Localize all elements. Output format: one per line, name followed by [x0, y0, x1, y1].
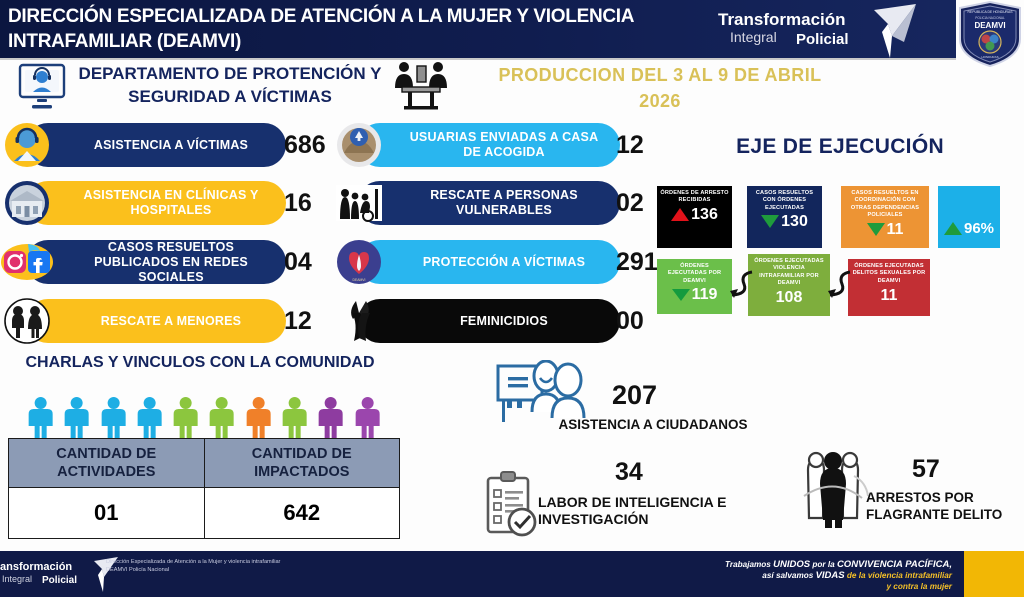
stat-pill-personas-vulnerables[interactable]: RESCATE A PERSONAS VULNERABLES 02 [332, 179, 662, 227]
eje-section-title: EJE DE EJECUCIÓN [700, 135, 980, 159]
header-bar: DIRECCIÓN ESPECIALIZADA DE ATENCIÓN A LA… [0, 0, 956, 60]
table-header-impactados: CANTIDAD DE IMPACTADOS [204, 439, 400, 488]
eje-box-value: 96% [964, 220, 994, 237]
people-pictogram-row [24, 396, 384, 442]
eje-box-porcentaje[interactable]: 96% [938, 186, 1000, 248]
person-icon [97, 396, 130, 442]
pill-label: ASISTENCIA A VÍCTIMAS [94, 138, 248, 153]
trend-down-arrow-icon [761, 215, 779, 228]
pill-value: 12 [284, 307, 312, 336]
person-icon [314, 396, 347, 442]
eje-box-ordenes-recibidas[interactable]: ÓRDENES DE ARRESTO RECIBIDAS 136 [657, 186, 732, 248]
pill-label: USUARIAS ENVIADAS A CASA DE ACOGIDA [402, 130, 606, 160]
person-icon [242, 396, 275, 442]
slogan-part-4: de la violencia intrafamiliar [845, 571, 952, 580]
svg-text:REPUBLICA DE HONDURAS: REPUBLICA DE HONDURAS [967, 10, 1013, 14]
svg-text:DEAMVI: DEAMVI [974, 21, 1005, 30]
stat-pill-proteccion-victimas[interactable]: PROTECCIÓN A VÍCTIMAS DEAMVI 291 [332, 238, 662, 286]
heart-shield-icon: DEAMVI [332, 238, 386, 286]
eje-box-ordenes-deamvi[interactable]: ÓRDENES EJECUTADAS POR DEAMVI 119 [657, 259, 732, 314]
eje-box-label: ÓRDENES EJECUTADAS POR DEAMVI [660, 263, 729, 285]
eje-box-value: 136 [691, 206, 718, 223]
trend-down-arrow-icon [672, 289, 690, 301]
eje-box-label: ÓRDENES EJECUTADAS VIOLENCIA INTRAFAMILI… [751, 258, 827, 288]
stat-label-asistencia-ciudadanos: ASISTENCIA A CIUDADANOS [548, 416, 758, 433]
department-title: DEPARTAMENTO DE PROTENCIÓN Y SEGURIDAD A… [72, 62, 388, 108]
stat-pill-clinicas-hospitales[interactable]: ASISTENCIA EN CLÍNICAS Y HOSPITALES 16 [0, 179, 340, 227]
footer-bar: ansformación Integral Policial Dirección… [0, 551, 1024, 597]
eje-box-label: ÓRDENES DE ARRESTO RECIBIDAS [660, 190, 729, 205]
deamvi-shield-logo: REPUBLICA DE HONDURAS POLICIA NACIONAL D… [958, 1, 1022, 67]
table-header-row: CANTIDAD DE ACTIVIDADES CANTIDAD DE IMPA… [9, 439, 400, 488]
person-icon [351, 396, 384, 442]
svg-text:HONDURAS: HONDURAS [981, 55, 998, 59]
eje-box-value: 108 [776, 289, 803, 306]
eje-box-value: 11 [881, 287, 898, 304]
eje-box-value-row: 96% [944, 220, 994, 237]
stat-pill-feminicidios[interactable]: FEMINICIDIOS 00 [332, 297, 662, 345]
pill-body: CASOS RESUELTOS PUBLICADOS EN REDES SOCI… [26, 240, 286, 284]
pill-label: ASISTENCIA EN CLÍNICAS Y HOSPITALES [70, 188, 272, 218]
pill-label: FEMINICIDIOS [460, 314, 548, 329]
pill-body: ASISTENCIA A VÍCTIMAS [26, 123, 286, 167]
trend-up-arrow-icon [944, 222, 962, 235]
eje-box-coordinacion-dependencias[interactable]: CASOS RESUELTOS EN COORDINACIÓN CON OTRA… [841, 186, 929, 248]
pill-body: PROTECCIÓN A VÍCTIMAS [358, 240, 620, 284]
person-icon [60, 396, 93, 442]
pill-body: USUARIAS ENVIADAS A CASA DE ACOGIDA [358, 123, 620, 167]
stat-pill-casa-acogida[interactable]: USUARIAS ENVIADAS A CASA DE ACOGIDA 12 [332, 121, 662, 169]
connector-arrow-1-icon [728, 268, 754, 298]
pill-body: RESCATE A PERSONAS VULNERABLES [358, 181, 620, 225]
pill-value: 12 [616, 131, 644, 160]
pill-body: FEMINICIDIOS [358, 299, 620, 343]
black-ribbon-icon [332, 297, 386, 345]
connector-arrow-2-icon [826, 268, 852, 298]
footer-brand-line-1: ansformación [0, 561, 72, 573]
pill-label: RESCATE A MENORES [101, 314, 241, 329]
pill-value: 686 [284, 131, 326, 160]
eje-box-value: 11 [887, 221, 904, 238]
trend-down-arrow-icon [867, 223, 885, 236]
svg-text:DEAMVI: DEAMVI [353, 278, 366, 282]
table-header-actividades: CANTIDAD DE ACTIVIDADES [9, 439, 205, 488]
stat-value-labor-inteligencia: 34 [615, 458, 643, 487]
children-icon [0, 297, 54, 345]
eje-box-value-row: 11 [867, 221, 904, 238]
slogan-part-3: así salvamos [762, 571, 815, 580]
brand-line-1: Transformación [718, 10, 846, 30]
pill-value: 02 [616, 189, 644, 218]
pill-value: 04 [284, 248, 312, 277]
stat-pill-redes-sociales[interactable]: CASOS RESUELTOS PUBLICADOS EN REDES SOCI… [0, 238, 340, 286]
production-range: PRODUCCION DEL 3 AL 9 DE ABRIL [498, 65, 821, 85]
stat-value-arrestos: 57 [912, 455, 940, 484]
stat-label-arrestos: ARRESTOS POR FLAGRANTE DELITO [866, 489, 1024, 523]
vulnerable-people-icon [332, 179, 386, 227]
footer-brand-line-3: Policial [42, 575, 77, 586]
infographic-root: DIRECCIÓN ESPECIALIZADA DE ATENCIÓN A LA… [0, 0, 1024, 597]
charlas-title: CHARLAS Y VINCULOS CON LA COMUNIDAD [20, 352, 380, 373]
brand-line-2: Integral [730, 29, 777, 45]
slogan-part-unidos: UNIDOS [773, 559, 810, 570]
pill-label: CASOS RESUELTOS PUBLICADOS EN REDES SOCI… [70, 240, 272, 285]
footer-brand: ansformación Integral Policial [0, 559, 120, 593]
shelter-house-icon [332, 121, 386, 169]
pill-value: 00 [616, 307, 644, 336]
footer-slogan: Trabajamos UNIDOS por la CONVIVENCIA PAC… [652, 559, 952, 592]
transformacion-brand: Transformación Integral Policial [718, 8, 898, 54]
pill-value: 291 [616, 248, 658, 277]
table-row: 01 642 [9, 488, 400, 539]
slogan-part-2: por la [810, 560, 837, 569]
pill-body: RESCATE A MENORES [26, 299, 286, 343]
stat-pill-asistencia-victimas[interactable]: ASISTENCIA A VÍCTIMAS 686 [0, 121, 340, 169]
table-cell-actividades: 01 [9, 488, 205, 539]
eje-box-value-row: 119 [672, 286, 718, 303]
pill-value: 16 [284, 189, 312, 218]
arrow-logo-icon [864, 2, 924, 62]
svg-text:POLICIA NACIONAL: POLICIA NACIONAL [975, 16, 1005, 20]
stat-value-asistencia-ciudadanos: 207 [612, 380, 657, 411]
clipboard-check-icon [482, 470, 540, 538]
footer-brand-line-2: Integral [2, 574, 32, 584]
eje-box-label: CASOS RESUELTOS EN COORDINACIÓN CON OTRA… [844, 190, 926, 220]
trend-up-arrow-icon [671, 208, 689, 221]
page-title: DIRECCIÓN ESPECIALIZADA DE ATENCIÓN A LA… [8, 4, 698, 54]
meeting-table-icon [392, 58, 450, 112]
production-year: 2026 [639, 91, 681, 111]
agent-monitor-icon [16, 62, 68, 110]
person-icon [24, 396, 57, 442]
stat-label-labor-inteligencia: LABOR DE INTELIGENCIA E INVESTIGACIÓN [538, 494, 748, 528]
person-icon [133, 396, 166, 442]
eje-box-label: ÓRDENES EJECUTADAS DELITOS SEXUALES POR … [851, 263, 927, 285]
eje-box-violencia-intrafamiliar[interactable]: ÓRDENES EJECUTADAS VIOLENCIA INTRAFAMILI… [748, 254, 830, 316]
eje-box-delitos-sexuales[interactable]: ÓRDENES EJECUTADAS DELITOS SEXUALES POR … [848, 259, 930, 316]
pill-body: ASISTENCIA EN CLÍNICAS Y HOSPITALES [26, 181, 286, 225]
pill-label: PROTECCIÓN A VÍCTIMAS [423, 255, 585, 270]
slogan-part-vidas: VIDAS [816, 570, 845, 581]
eje-box-value: 119 [692, 286, 718, 303]
table-cell-impactados: 642 [204, 488, 400, 539]
person-icon [169, 396, 202, 442]
eje-box-value-row: 136 [671, 206, 718, 223]
pill-label: RESCATE A PERSONAS VULNERABLES [402, 188, 606, 218]
agent-headset-icon [0, 121, 54, 169]
social-media-icon [0, 238, 54, 286]
eje-box-value: 130 [781, 213, 808, 230]
person-icon [205, 396, 238, 442]
charlas-table: CANTIDAD DE ACTIVIDADES CANTIDAD DE IMPA… [8, 438, 400, 539]
footer-accent-block [964, 551, 1024, 597]
eje-box-value-row: 130 [761, 213, 808, 230]
slogan-part-convivencia: CONVIVENCIA PACÍFICA, [837, 559, 952, 570]
person-icon [278, 396, 311, 442]
slogan-part-1: Trabajamos [725, 560, 773, 569]
brand-line-3: Policial [796, 31, 849, 48]
eje-box-casos-resueltos-ordenes[interactable]: CASOS RESUELTOS CON ÓRDENES EJECUTADAS 1… [747, 186, 822, 248]
stat-pill-rescate-menores[interactable]: RESCATE A MENORES 12 [0, 297, 340, 345]
production-period: PRODUCCION DEL 3 AL 9 DE ABRIL 2026 [460, 62, 860, 114]
hospital-icon [0, 179, 54, 227]
arrest-officers-icon [790, 448, 876, 530]
slogan-part-5: y contra la mujer [886, 582, 952, 591]
eje-box-label: CASOS RESUELTOS CON ÓRDENES EJECUTADAS [750, 190, 819, 212]
footer-address: Dirección Especializada de Atención a la… [106, 558, 296, 574]
